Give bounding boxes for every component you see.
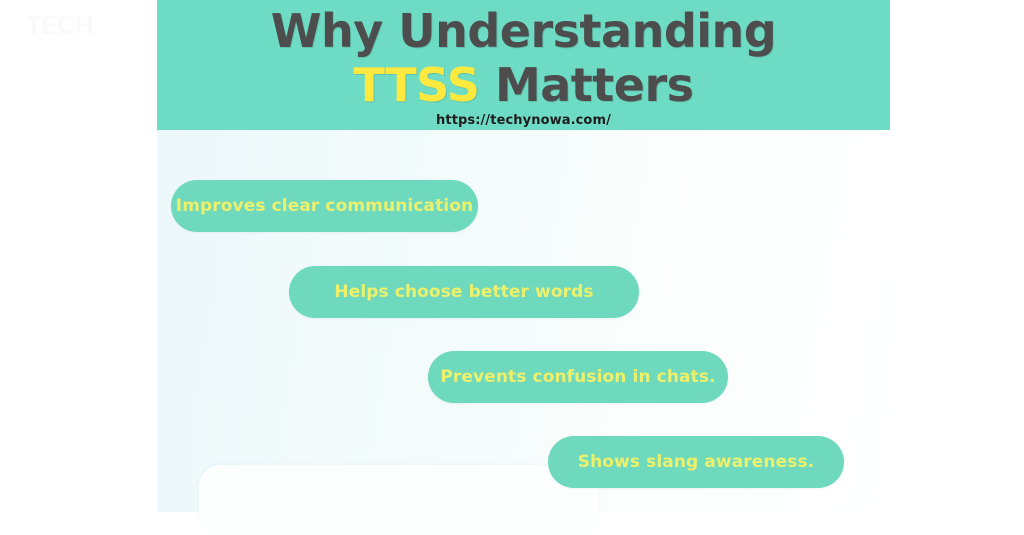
- benefit-pill-2: Helps choose better words: [289, 266, 639, 318]
- benefit-pill-3: Prevents confusion in chats.: [428, 351, 728, 403]
- benefit-pill-1-label: Improves clear communication: [176, 196, 473, 216]
- source-url: https://techynowa.com/: [157, 113, 890, 129]
- page-title-line-2: TTSS Matters: [157, 58, 890, 112]
- benefit-pill-3-label: Prevents confusion in chats.: [440, 367, 715, 387]
- page-title-line-1: Why Understanding: [271, 4, 776, 58]
- header-band: Why Understanding TTSS Matters https://t…: [157, 0, 890, 130]
- benefit-pill-4: Shows slang awareness.: [548, 436, 844, 488]
- page-title: Why Understanding TTSS Matters: [157, 4, 890, 112]
- ghost-card: [199, 465, 599, 535]
- watermark-text: TECH: [26, 10, 88, 40]
- benefit-pill-1: Improves clear communication: [171, 180, 478, 232]
- infographic-canvas: TECH Why Understanding TTSS Matters http…: [0, 0, 1024, 512]
- page-title-line-2-rest: Matters: [479, 58, 693, 112]
- benefit-pill-4-label: Shows slang awareness.: [578, 452, 814, 472]
- page-title-accent: TTSS: [353, 58, 479, 112]
- benefit-pill-2-label: Helps choose better words: [334, 282, 593, 302]
